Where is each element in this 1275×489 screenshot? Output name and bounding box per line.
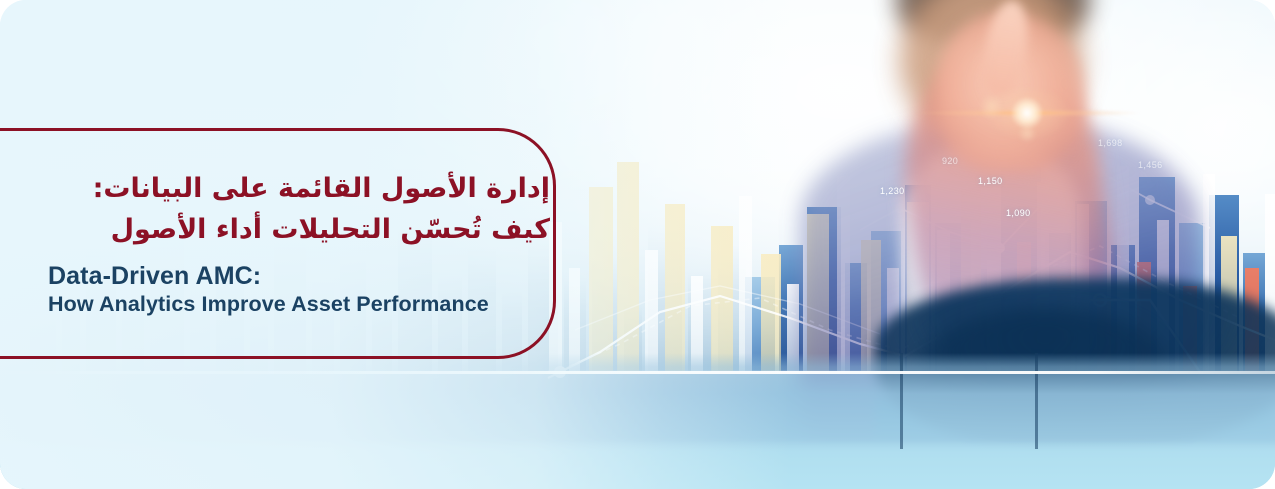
- title-card: إدارة الأصول القائمة على البيانات: كيف ت…: [48, 128, 568, 359]
- arabic-title-line-1: إدارة الأصول القائمة على البيانات:: [48, 168, 550, 209]
- hero-banner: 1,230 920 1,150 1,090 1,698 1,456 إدارة …: [0, 0, 1275, 489]
- arabic-title-line-2: كيف تُحسّن التحليلات أداء الأصول: [48, 209, 550, 250]
- english-subtitle: How Analytics Improve Asset Performance: [48, 291, 550, 319]
- english-title: Data-Driven AMC:: [48, 261, 550, 292]
